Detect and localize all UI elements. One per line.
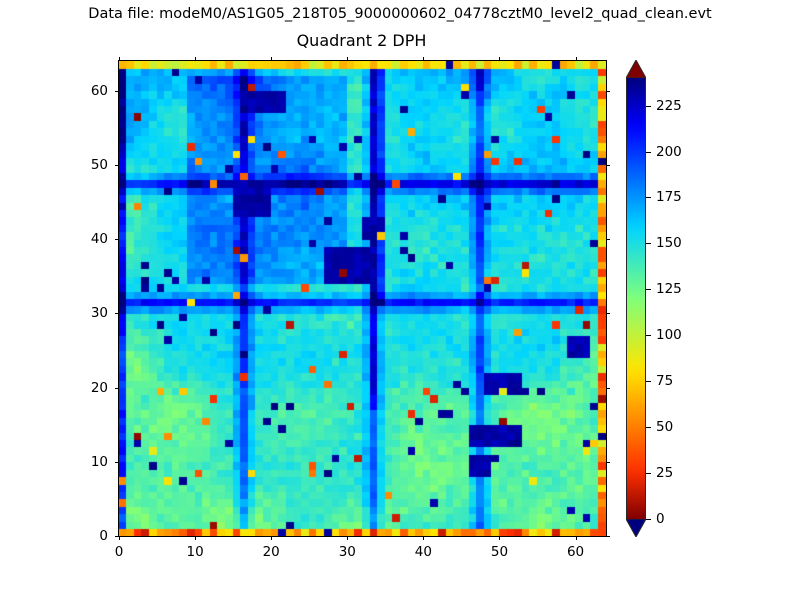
heatmap-image[interactable] xyxy=(119,61,606,536)
colorbar-extend-min-arrow xyxy=(626,519,646,537)
colorbar[interactable]: 0255075100125150175200225 xyxy=(626,60,646,537)
y-tick-label-50: 50 xyxy=(91,157,108,173)
y-tick-0 xyxy=(115,536,119,537)
colorbar-tick-150 xyxy=(646,243,651,244)
y-tick-label-0: 0 xyxy=(99,528,108,544)
colorbar-tick-200 xyxy=(646,152,651,153)
colorbar-tick-label-125: 125 xyxy=(656,281,682,297)
colorbar-tick-225 xyxy=(646,106,651,107)
heatmap-axes[interactable]: 0102030405060 0102030405060 xyxy=(118,60,607,537)
x-tick-top-40 xyxy=(423,57,424,61)
y-tick-label-10: 10 xyxy=(91,454,108,470)
y-tick-10 xyxy=(115,462,119,463)
colorbar-tick-label-75: 75 xyxy=(656,373,673,389)
colorbar-tick-label-25: 25 xyxy=(656,465,673,481)
colorbar-tick-100 xyxy=(646,335,651,336)
colorbar-tick-label-100: 100 xyxy=(656,327,682,343)
y-tick-60 xyxy=(115,91,119,92)
matplotlib-figure: Data file: modeM0/AS1G05_218T05_90000006… xyxy=(0,0,800,600)
y-tick-30 xyxy=(115,313,119,314)
y-tick-right-10 xyxy=(606,462,610,463)
colorbar-tick-label-150: 150 xyxy=(656,235,682,251)
x-tick-10 xyxy=(195,536,196,540)
colorbar-tick-125 xyxy=(646,289,651,290)
colorbar-tick-0 xyxy=(646,519,651,520)
x-tick-label-0: 0 xyxy=(115,544,124,560)
x-tick-top-60 xyxy=(576,57,577,61)
data-file-suptitle: Data file: modeM0/AS1G05_218T05_90000006… xyxy=(0,6,800,22)
y-tick-label-20: 20 xyxy=(91,380,108,396)
x-tick-20 xyxy=(271,536,272,540)
x-tick-top-50 xyxy=(499,57,500,61)
plot-title: Quadrant 2 DPH xyxy=(118,31,605,50)
x-tick-0 xyxy=(119,536,120,540)
y-tick-right-50 xyxy=(606,165,610,166)
colorbar-tick-label-50: 50 xyxy=(656,419,673,435)
x-tick-top-0 xyxy=(119,57,120,61)
colorbar-tick-label-0: 0 xyxy=(656,511,665,527)
x-tick-label-50: 50 xyxy=(491,544,508,560)
y-tick-right-20 xyxy=(606,388,610,389)
y-tick-40 xyxy=(115,239,119,240)
colorbar-tick-175 xyxy=(646,197,651,198)
y-tick-label-30: 30 xyxy=(91,305,108,321)
x-tick-label-60: 60 xyxy=(567,544,584,560)
y-tick-50 xyxy=(115,165,119,166)
colorbar-tick-50 xyxy=(646,427,651,428)
colorbar-extend-max-arrow xyxy=(626,60,646,78)
y-tick-right-60 xyxy=(606,91,610,92)
colorbar-tick-25 xyxy=(646,473,651,474)
x-tick-30 xyxy=(347,536,348,540)
y-tick-20 xyxy=(115,388,119,389)
x-tick-label-10: 10 xyxy=(187,544,204,560)
x-tick-top-10 xyxy=(195,57,196,61)
colorbar-tick-label-200: 200 xyxy=(656,144,682,160)
y-tick-label-40: 40 xyxy=(91,231,108,247)
y-tick-label-60: 60 xyxy=(91,83,108,99)
x-tick-label-30: 30 xyxy=(339,544,356,560)
y-tick-right-0 xyxy=(606,536,610,537)
x-tick-50 xyxy=(499,536,500,540)
colorbar-tick-label-175: 175 xyxy=(656,189,682,205)
colorbar-tick-75 xyxy=(646,381,651,382)
x-tick-top-30 xyxy=(347,57,348,61)
x-tick-label-40: 40 xyxy=(415,544,432,560)
x-tick-60 xyxy=(576,536,577,540)
colorbar-tick-label-225: 225 xyxy=(656,98,682,114)
x-tick-label-20: 20 xyxy=(263,544,280,560)
x-tick-40 xyxy=(423,536,424,540)
y-tick-right-40 xyxy=(606,239,610,240)
colorbar-gradient xyxy=(626,78,646,519)
y-tick-right-30 xyxy=(606,313,610,314)
x-tick-top-20 xyxy=(271,57,272,61)
